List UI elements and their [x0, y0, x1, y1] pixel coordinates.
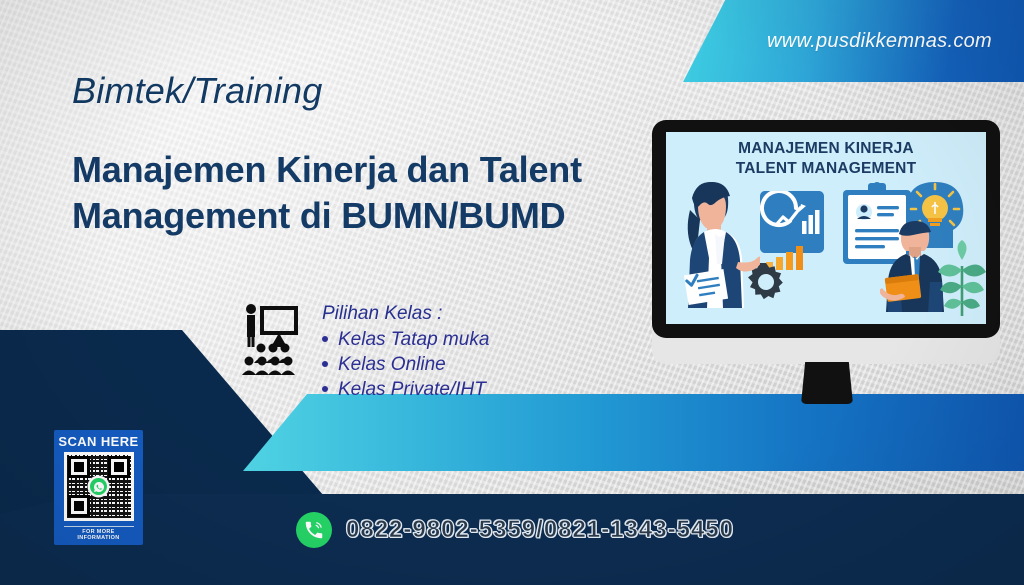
screen-heading-line-1: MANAJEMEN KINERJA — [738, 140, 914, 157]
class-options-block: Pilihan Kelas : Kelas Tatap muka Kelas O… — [240, 303, 489, 402]
qr-finder-top-left — [68, 456, 90, 478]
qr-heading: SCAN HERE — [58, 435, 138, 448]
whatsapp-icon — [90, 478, 107, 495]
website-url[interactable]: www.pusdikkemnas.com — [767, 30, 1024, 53]
qr-finder-top-right — [108, 456, 130, 478]
kicker-text: Bimtek/Training — [72, 70, 322, 112]
class-options-label: Pilihan Kelas : — [322, 303, 489, 325]
businesswoman-presenter — [674, 180, 760, 308]
screen-heading-line-2: TALENT MANAGEMENT — [666, 159, 986, 179]
monitor-stand — [801, 362, 853, 404]
promo-banner: www.pusdikkemnas.com Bimtek/Training Man… — [0, 0, 1024, 585]
qr-footer-text: FOR MORE INFORMATION — [64, 526, 134, 541]
phone-call-icon — [296, 512, 332, 548]
title-line-2: Management di BUMN/BUMD — [72, 193, 652, 239]
gradient-band — [243, 394, 1024, 471]
monitor-illustration: MANAJEMEN KINERJA TALENT MANAGEMENT — [640, 114, 1012, 404]
monitor-screen: MANAJEMEN KINERJA TALENT MANAGEMENT — [666, 132, 986, 324]
qr-scan-card[interactable]: SCAN HERE FOR MORE INFORMATION — [54, 430, 143, 545]
screen-heading: MANAJEMEN KINERJA TALENT MANAGEMENT — [666, 139, 986, 180]
list-item: Kelas Online — [338, 352, 489, 377]
page-title: Manajemen Kinerja dan Talent Management … — [72, 147, 652, 239]
phone-number[interactable]: 0822-9802-5359/0821-1343-5450 — [346, 516, 734, 544]
list-item: Kelas Private/IHT — [338, 377, 489, 402]
qr-code[interactable] — [64, 452, 134, 521]
green-plant — [934, 240, 986, 316]
presentation-audience-icon — [240, 303, 302, 375]
website-ribbon: www.pusdikkemnas.com — [683, 0, 1024, 82]
contact-row[interactable]: 0822-9802-5359/0821-1343-5450 — [296, 512, 734, 548]
qr-finder-bottom-left — [68, 495, 90, 517]
list-item: Kelas Tatap muka — [338, 327, 489, 352]
class-options-list: Pilihan Kelas : Kelas Tatap muka Kelas O… — [320, 303, 489, 402]
title-line-1: Manajemen Kinerja dan Talent — [72, 149, 582, 190]
